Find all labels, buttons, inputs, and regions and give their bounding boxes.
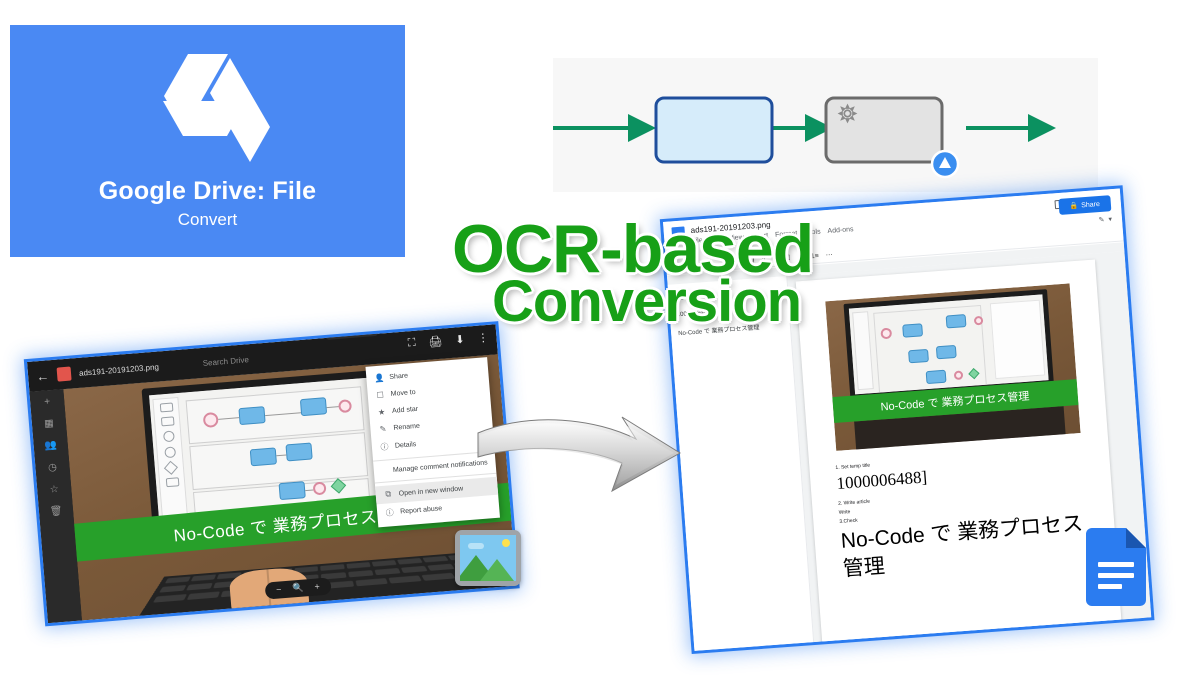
report-icon: ⓘ [385,507,395,519]
print-icon[interactable]: 🖨 [428,335,443,349]
download-icon[interactable]: ⬇ [455,333,465,347]
preview-toolbar-icons: ⛶ 🖨 ⬇ ⋮ [407,331,489,350]
info-icon: ⓘ [380,441,390,453]
cloud-icon [468,543,484,549]
ocr-title-overlay: OCR-based Conversion [452,218,813,328]
bpmn-palette [152,397,188,527]
flow-diagram-panel [553,58,1098,192]
curved-3d-arrow-icon [470,395,685,525]
sun-icon [502,539,510,547]
mountain-icon [480,559,514,581]
slide-canvas: Google Drive: File Convert [0,0,1200,675]
grid-icon[interactable]: ▦ [44,418,54,430]
menu-add-ons[interactable]: Add-ons [827,226,854,235]
star-icon: ★ [377,407,387,417]
chevron-down-icon: ▾ [1108,215,1112,223]
person-add-icon: 👤 [374,373,384,383]
rename-pencil-icon: ✎ [378,424,388,434]
editing-pencil-icon: ✎ [1098,216,1104,224]
back-arrow-icon[interactable]: ← [36,368,50,384]
document-page[interactable]: No-Code で 業務プロセス管理 1. Set temp title 100… [796,259,1125,650]
google-drive-card: Google Drive: File Convert [10,25,405,257]
ocr-title-line2: Conversion [492,275,813,328]
more-vertical-icon[interactable]: ⋮ [477,331,489,345]
zoom-out-icon[interactable]: − [276,584,282,595]
preview-body: + ▦ 👥 ◷ ☆ 🗑 [29,354,516,623]
zoom-in-icon[interactable]: + [314,581,320,592]
move-to-icon: ☐ [375,390,385,400]
drive-file-preview-screenshot[interactable]: ← ads191-20191203.png Search Drive ⛶ 🖨 ⬇… [27,324,516,623]
trash-icon[interactable]: 🗑 [49,506,63,518]
editing-mode-button[interactable]: ✎ ▾ [1098,215,1112,224]
card-subtitle: Convert [178,210,238,230]
image-thumbnail-icon [455,530,521,586]
share-button[interactable]: 🔒 Share [1058,195,1111,215]
search-input[interactable]: Search Drive [202,355,249,368]
clock-icon[interactable]: ◷ [48,462,58,474]
people-icon[interactable]: 👥 [44,440,57,452]
star-icon[interactable]: ☆ [49,484,59,496]
google-drive-triangle-logo [144,52,272,164]
open-new-window-icon: ⧉ [383,489,393,500]
add-to-drive-icon[interactable]: ⛶ [407,337,416,351]
preview-filename: ads191-20191203.png [79,362,160,377]
google-docs-file-icon [1086,528,1146,606]
plus-icon[interactable]: + [44,396,51,407]
embedded-image: No-Code で 業務プロセス管理 [825,283,1080,451]
card-title: Google Drive: File [99,178,317,206]
zoom-fit-icon[interactable]: 🔍 [292,583,304,595]
share-label: Share [1081,200,1100,208]
image-file-icon [57,367,72,382]
more-icon[interactable]: ⋯ [825,251,833,259]
lock-icon: 🔒 [1069,202,1078,211]
